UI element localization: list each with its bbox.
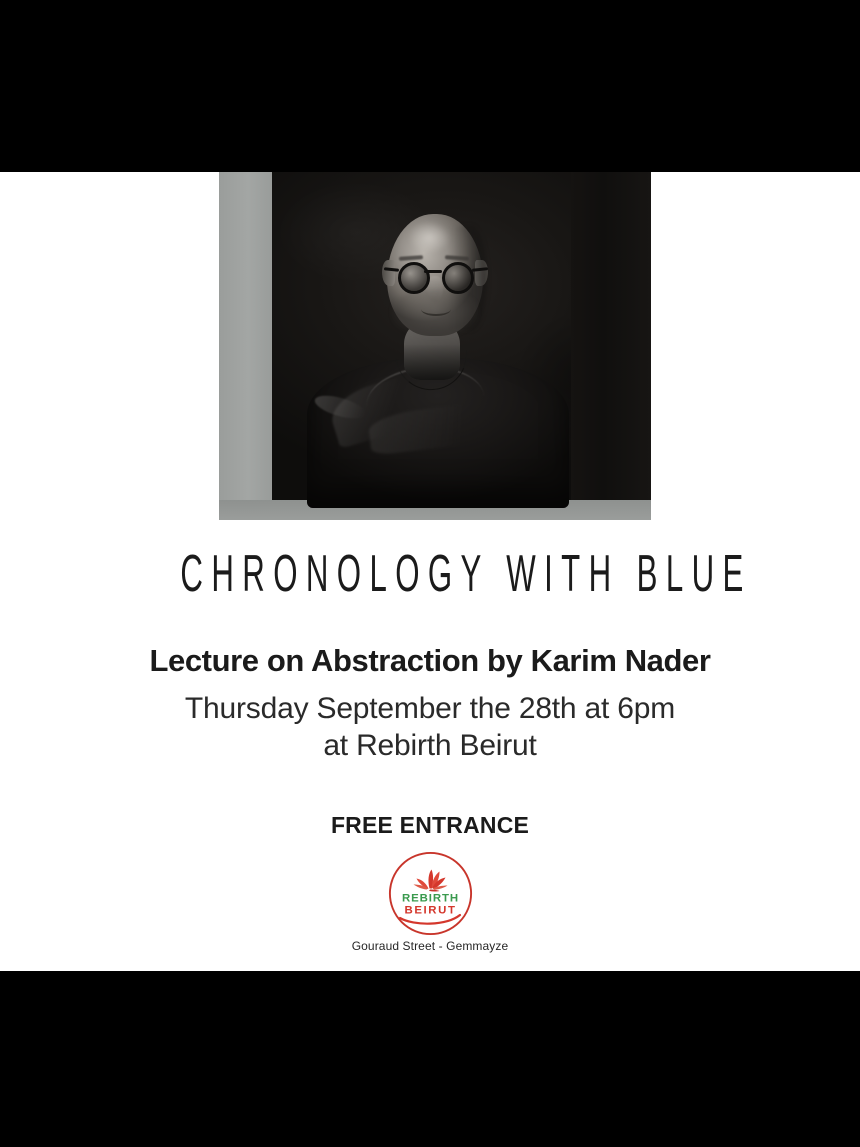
- glasses-lens-left: [398, 262, 430, 294]
- poster-title: CHRONOLOGY WITH BLUE: [172, 548, 688, 600]
- poster-card: CHRONOLOGY WITH BLUE Lecture on Abstract…: [0, 172, 860, 971]
- glasses-lens-right: [442, 262, 474, 294]
- glasses-temple-right: [472, 267, 488, 271]
- free-entrance-label: FREE ENTRANCE: [0, 811, 860, 839]
- letterbox-bottom-bar: [0, 971, 860, 1147]
- portrait-figure: [219, 172, 651, 520]
- rebirth-beirut-logo-svg: REBIRTH BEIRUT: [388, 851, 473, 936]
- lecture-headline: Lecture on Abstraction by Karim Nader: [0, 643, 860, 679]
- glasses-temple-left: [384, 267, 399, 271]
- glasses-bridge: [424, 270, 442, 273]
- event-date-line: Thursday September the 28th at 6pm: [0, 690, 860, 727]
- event-details: Thursday September the 28th at 6pm at Re…: [0, 690, 860, 764]
- speaker-portrait-photo: [219, 172, 651, 520]
- logo-word-rebirth: REBIRTH: [402, 893, 459, 905]
- rebirth-beirut-logo: REBIRTH BEIRUT: [388, 851, 473, 936]
- logo-word-beirut: BEIRUT: [405, 905, 457, 917]
- letterbox-top-bar: [0, 0, 860, 172]
- round-glasses-icon: [384, 260, 488, 290]
- event-venue-line: at Rebirth Beirut: [0, 727, 860, 764]
- venue-address: Gouraud Street - Gemmayze: [0, 938, 860, 954]
- poster-root: CHRONOLOGY WITH BLUE Lecture on Abstract…: [0, 0, 860, 1147]
